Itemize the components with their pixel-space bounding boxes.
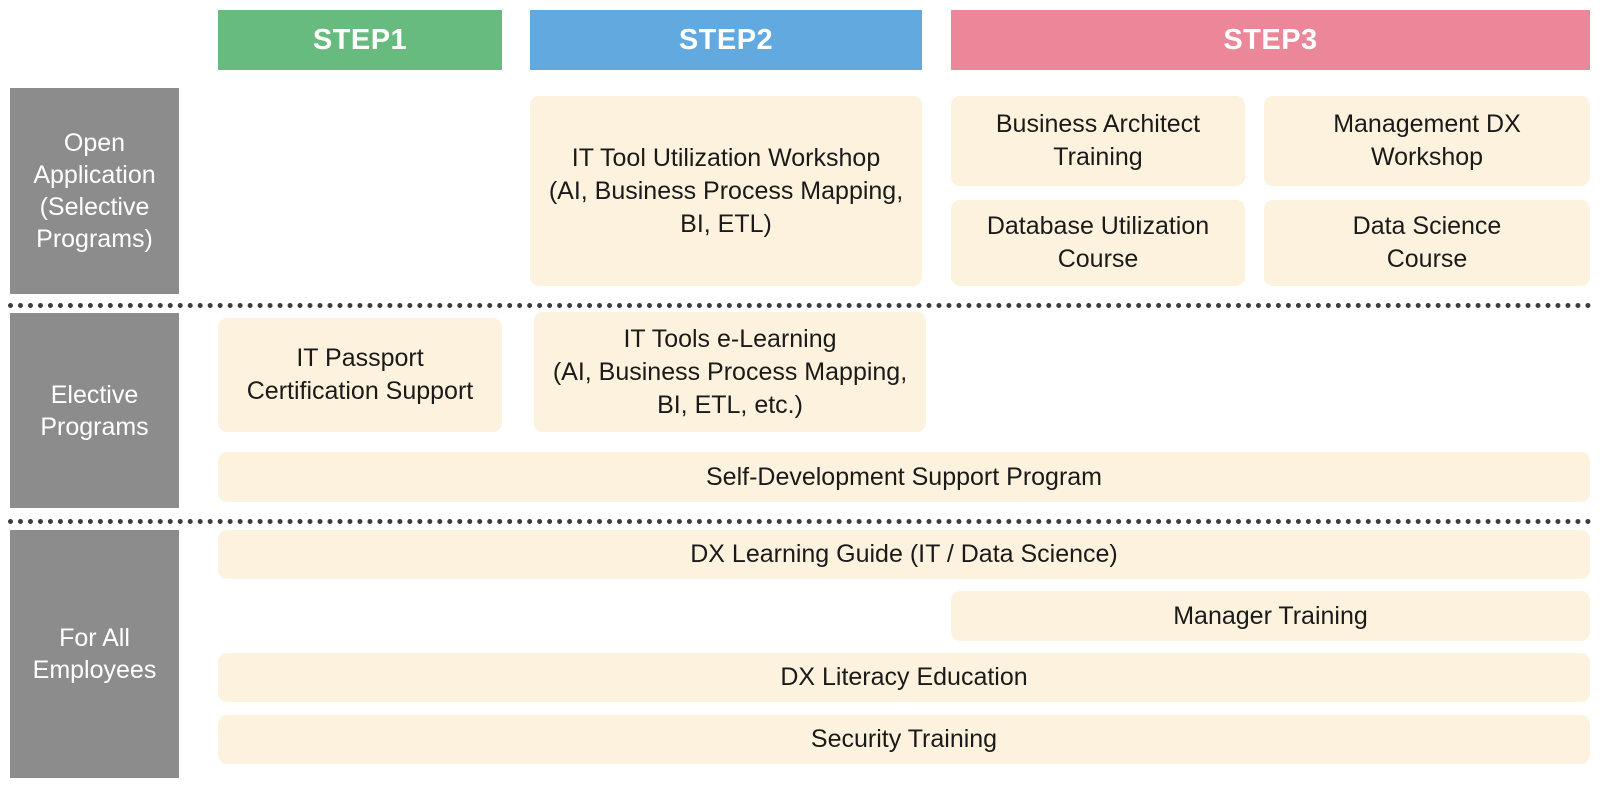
step-header-step1: STEP1 (218, 10, 502, 70)
card-line-2: Course (1058, 243, 1139, 276)
card-line-1: Data Science (1353, 210, 1502, 243)
card-line-2: Course (1387, 243, 1468, 276)
card-line-3: BI, ETL) (680, 208, 772, 241)
card-line-1: Management DX (1333, 108, 1521, 141)
card-line-2: (AI, Business Process Mapping, (553, 356, 907, 389)
card-line-1: Database Utilization (987, 210, 1209, 243)
card-manager-training[interactable]: Manager Training (951, 591, 1590, 641)
card-line-2: Training (1053, 141, 1142, 174)
row-label-line-4: Programs) (36, 223, 153, 255)
card-it-tool-utilization-workshop[interactable]: IT Tool Utilization Workshop (AI, Busine… (530, 96, 922, 286)
card-line-3: BI, ETL, etc.) (657, 389, 803, 422)
card-dx-learning-guide[interactable]: DX Learning Guide (IT / Data Science) (218, 530, 1590, 579)
step3-label: STEP3 (1223, 24, 1317, 57)
row-label-line-2: Application (33, 159, 155, 191)
card-data-science-course[interactable]: Data Science Course (1264, 200, 1590, 286)
step2-label: STEP2 (679, 24, 773, 57)
card-database-utilization-course[interactable]: Database Utilization Course (951, 200, 1245, 286)
row-label-for-all-employees: For All Employees (10, 530, 179, 778)
divider-row-1-2 (8, 303, 1592, 308)
step-header-step3: STEP3 (951, 10, 1590, 70)
row-label-line-3: (Selective (40, 191, 150, 223)
training-roadmap-matrix: STEP1 STEP2 STEP3 Open Application (Sele… (0, 0, 1600, 788)
card-line-2: Workshop (1371, 141, 1483, 174)
card-security-training[interactable]: Security Training (218, 715, 1590, 764)
card-line-1: Manager Training (1173, 600, 1368, 633)
card-line-2: (AI, Business Process Mapping, (549, 175, 903, 208)
card-line-1: Business Architect (996, 108, 1200, 141)
card-line-1: DX Learning Guide (IT / Data Science) (690, 538, 1118, 571)
card-line-1: IT Passport (296, 342, 423, 375)
row-label-line-1: Open (64, 127, 125, 159)
card-it-tools-elearning[interactable]: IT Tools e-Learning (AI, Business Proces… (534, 312, 926, 432)
card-line-2: Certification Support (247, 375, 474, 408)
row-label-line-2: Employees (33, 654, 157, 686)
divider-row-2-3 (8, 519, 1592, 524)
card-it-passport-certification-support[interactable]: IT Passport Certification Support (218, 318, 502, 432)
row-label-line-2: Programs (40, 411, 148, 443)
card-line-1: DX Literacy Education (780, 661, 1027, 694)
card-management-dx-workshop[interactable]: Management DX Workshop (1264, 96, 1590, 186)
card-line-1: Self-Development Support Program (706, 461, 1102, 494)
row-label-elective-programs: Elective Programs (10, 313, 179, 508)
row-label-open-application: Open Application (Selective Programs) (10, 88, 179, 294)
card-line-1: IT Tools e-Learning (623, 323, 836, 356)
card-business-architect-training[interactable]: Business Architect Training (951, 96, 1245, 186)
step-header-step2: STEP2 (530, 10, 922, 70)
card-self-development-support-program[interactable]: Self-Development Support Program (218, 452, 1590, 502)
row-label-line-1: Elective (51, 379, 139, 411)
step1-label: STEP1 (313, 24, 407, 57)
row-label-line-1: For All (59, 622, 130, 654)
card-dx-literacy-education[interactable]: DX Literacy Education (218, 653, 1590, 702)
card-line-1: IT Tool Utilization Workshop (572, 142, 880, 175)
card-line-1: Security Training (811, 723, 997, 756)
